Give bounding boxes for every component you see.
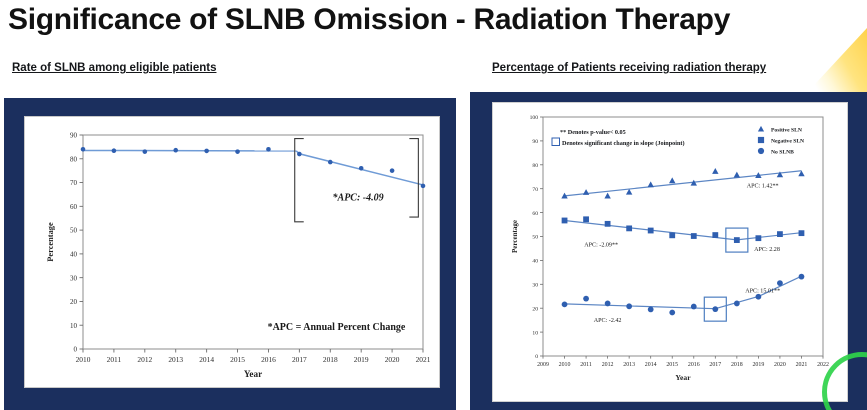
data-point-square [605,221,611,227]
y-tick-label: 80 [532,163,538,169]
x-tick-label: 2014 [645,362,657,368]
y-axis-title: Percentage [511,220,519,253]
data-point-square [799,230,805,236]
y-tick-label: 50 [70,227,78,235]
apc-annotation: APC: -2.09** [584,243,618,249]
data-point [421,184,426,189]
data-point [235,149,240,154]
x-tick-label: 2016 [261,355,276,364]
y-tick-label: 20 [70,298,78,306]
y-tick-label: 30 [532,283,538,289]
y-tick-label: 50 [532,235,538,241]
x-tick-label: 2018 [323,355,338,364]
y-tick-label: 90 [70,132,78,140]
data-point-circle [626,303,632,309]
x-tick-label: 2012 [137,355,152,364]
left-chart-frame: 0102030405060708090201020112012201320142… [24,116,440,388]
x-tick-label: 2014 [199,355,214,364]
x-tick-label: 2012 [602,362,614,368]
data-point-triangle [734,172,740,178]
apc-footnote: *APC = Annual Percent Change [268,322,406,333]
x-tick-label: 2019 [354,355,369,364]
apc-annotation: APC: 1.42** [747,184,779,190]
data-point-circle [734,301,740,307]
data-point-circle [755,294,761,300]
x-tick-label: 2013 [623,362,635,368]
legend-marker-circle [758,148,764,154]
data-point-square [626,225,632,231]
caption-left-chart: Rate of SLNB among eligible patients [12,62,216,74]
y-tick-label: 100 [530,115,539,121]
apc-annotation: APC: 2.28 [754,247,780,253]
x-tick-label: 2009 [537,362,549,368]
x-tick-label: 2017 [709,362,721,368]
x-tick-label: 2018 [731,362,743,368]
y-axis-title: Percentage [46,222,55,262]
data-point-triangle [604,193,610,199]
legend-label: Negative SLN [771,138,804,144]
legend-label: No SLNB [771,149,794,155]
x-tick-label: 2011 [580,362,592,368]
x-tick-label: 2021 [796,362,808,368]
data-point-square [755,235,761,241]
note-pvalue: ** Denotes p-value< 0.05 [560,129,626,136]
data-point-triangle [669,177,675,183]
x-tick-label: 2013 [168,355,183,364]
data-point-triangle [647,181,653,187]
data-point [390,168,395,173]
y-tick-label: 40 [70,250,78,258]
data-point-circle [691,304,697,310]
y-tick-label: 10 [532,330,538,336]
x-axis-title: Year [244,369,262,379]
data-point-square [712,232,718,238]
data-point [328,160,333,165]
data-point [112,148,117,153]
x-tick-label: 2021 [416,355,431,364]
x-tick-label: 2015 [230,355,245,364]
right-chart-frame: 0102030405060708090100200920102011201220… [492,102,848,402]
x-tick-label: 2017 [292,355,307,364]
x-tick-label: 2020 [385,355,400,364]
page-title: Significance of SLNB Omission - Radiatio… [8,0,858,40]
data-point-square [669,232,675,238]
data-point-circle [799,274,805,280]
y-tick-label: 60 [70,203,78,211]
y-tick-label: 70 [70,179,78,187]
x-tick-label: 2022 [817,362,829,368]
y-tick-label: 80 [70,155,78,163]
y-tick-label: 10 [70,322,78,330]
data-point [297,152,302,157]
legend-marker-triangle [758,126,764,132]
y-tick-label: 60 [532,211,538,217]
y-tick-label: 90 [532,139,538,145]
apc-annotation: APC: 15.01** [745,289,780,295]
slide-canvas: Significance of SLNB Omission - Radiatio… [0,0,867,410]
data-point-circle [669,310,675,316]
data-point-square [734,237,740,243]
data-point-triangle [583,189,589,195]
data-point [359,166,364,171]
x-axis-title: Year [675,373,691,382]
data-point [204,149,209,154]
caption-right-chart: Percentage of Patients receiving radiati… [492,62,766,74]
y-tick-label: 20 [532,306,538,312]
data-point-circle [712,306,718,312]
left-chart-panel: 0102030405060708090201020112012201320142… [4,98,456,410]
data-point-square [777,231,783,237]
data-point-circle [777,280,783,286]
left-chart-figure: 0102030405060708090201020112012201320142… [25,117,439,387]
apc-annotation: APC: -2.42 [594,318,622,324]
data-point-circle [605,301,611,307]
y-tick-label: 30 [70,274,78,282]
right-chart-figure: 0102030405060708090100200920102011201220… [493,103,847,401]
data-point-square [583,216,589,222]
data-point-square [562,218,568,224]
x-tick-label: 2010 [76,355,91,364]
y-tick-label: 40 [532,259,538,265]
legend-label: Positive SLN [771,127,802,133]
right-chart-panel: 0102030405060708090100200920102011201220… [470,92,867,410]
y-tick-label: 70 [532,187,538,193]
data-point-triangle [712,168,718,174]
x-tick-label: 2011 [107,355,122,364]
x-tick-label: 2015 [666,362,678,368]
data-point [81,147,86,152]
data-point-circle [648,306,654,312]
data-point [266,147,271,152]
data-point-circle [583,296,589,302]
joinpoint-legend-box [552,138,560,146]
x-tick-label: 2020 [774,362,786,368]
data-point-circle [562,301,568,307]
x-tick-label: 2016 [688,362,700,368]
y-tick-label: 0 [74,346,78,354]
right-bracket [409,139,418,217]
data-point [173,148,178,153]
y-tick-label: 0 [535,354,538,360]
data-point [143,149,148,154]
x-tick-label: 2019 [752,362,764,368]
note-joinpoint: Denotes significant change in slope (Joi… [562,140,685,147]
x-tick-label: 2010 [559,362,571,368]
data-point-square [691,233,697,239]
legend-marker-square [758,137,764,143]
apc-annotation: *APC: -4.09 [333,192,384,203]
data-point-square [648,228,654,234]
